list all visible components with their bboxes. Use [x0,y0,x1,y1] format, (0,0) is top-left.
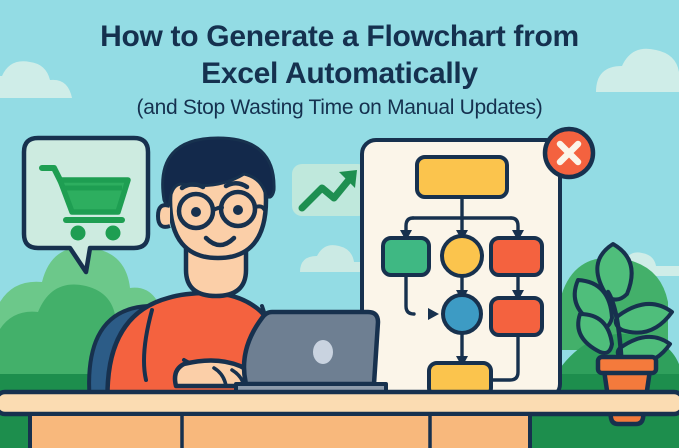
flow-node-yellow-circle [442,236,482,276]
page-subtitle: (and Stop Wasting Time on Manual Updates… [0,95,679,120]
illustration-banner: How to Generate a Flowchart from Excel A… [0,0,679,448]
page-title-line-1: How to Generate a Flowchart from [0,20,679,54]
flow-node-orange-top [491,238,542,275]
page-title-line-2: Excel Automatically [0,57,679,91]
flow-node-start [417,157,507,197]
laptop-icon [236,312,386,394]
flowchart-panel [362,140,560,398]
close-x-badge-icon [545,129,593,177]
flow-node-green [383,238,429,275]
flow-node-orange-bottom [491,298,542,335]
trend-card [292,164,368,216]
flow-node-blue-circle [443,295,481,333]
